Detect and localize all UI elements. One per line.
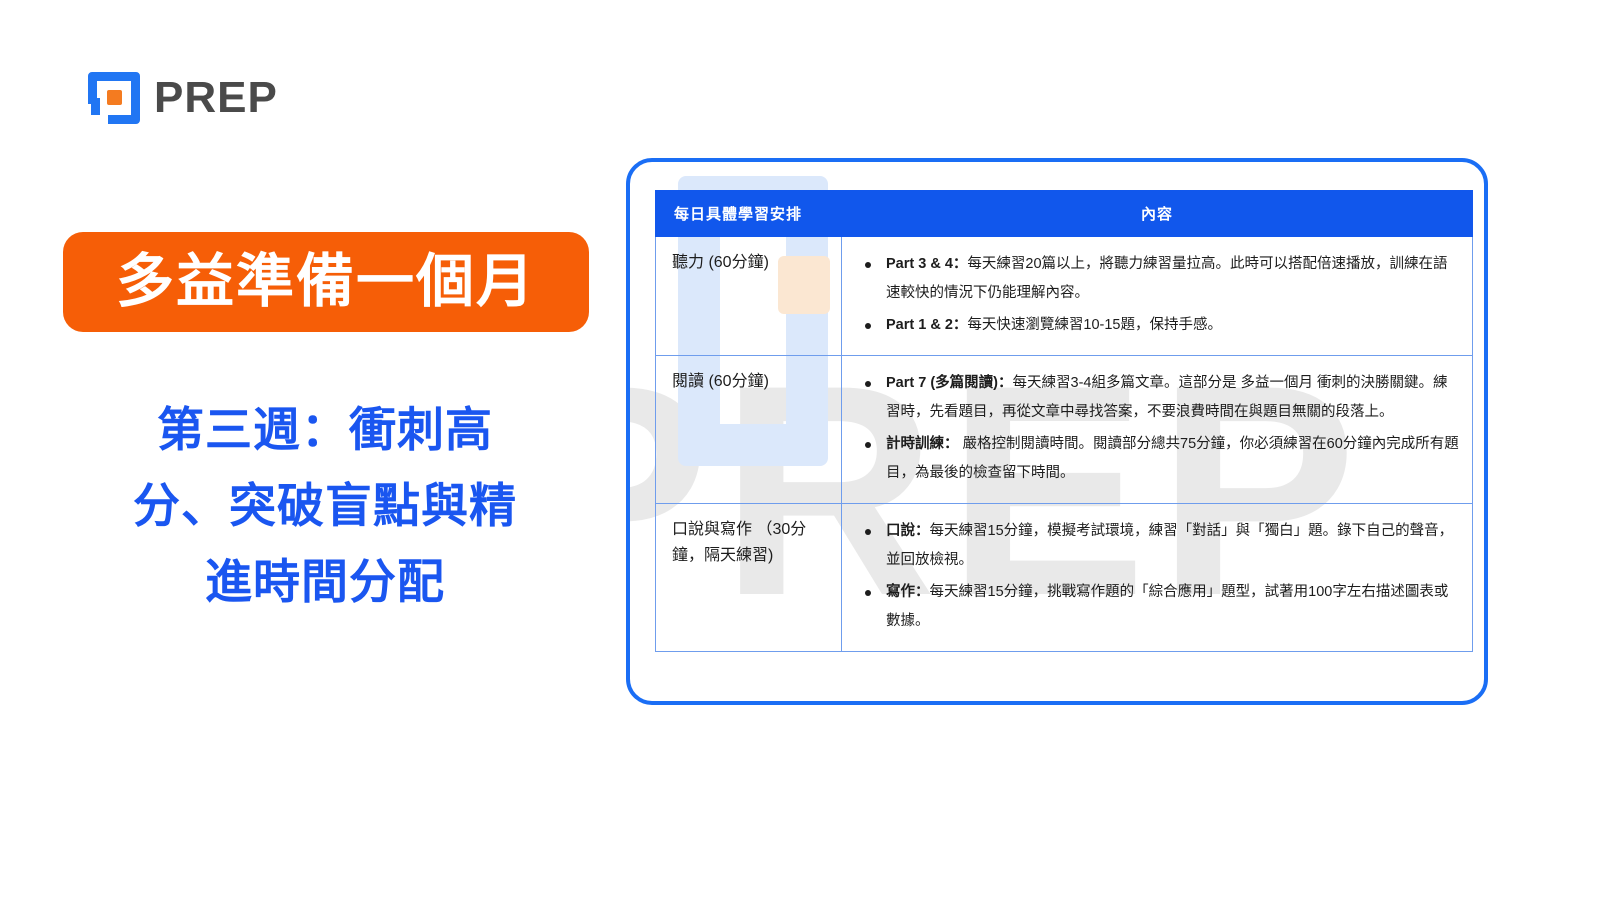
- table-row: 口說與寫作 （30分鐘，隔天練習) 口說：每天練習15分鐘，模擬考試環境，練習「…: [656, 504, 1473, 652]
- bullet-text: 每天練習15分鐘，挑戰寫作題的「綜合應用」題型，試著用100字左右描述圖表或數據…: [886, 584, 1448, 629]
- list-item: 口說：每天練習15分鐘，模擬考試環境，練習「對話」與「獨白」題。錄下自己的聲音，…: [886, 517, 1460, 575]
- schedule-table: 每日具體學習安排 內容 聽力 (60分鐘) Part 3 & 4：每天練習20篇…: [655, 190, 1473, 652]
- schedule-card: PREP 每日具體學習安排 內容 聽力 (60分鐘): [626, 158, 1488, 705]
- table-header-row: 每日具體學習安排 內容: [656, 191, 1473, 237]
- brand-logo: PREP: [88, 72, 278, 124]
- page-title: 第三週：衝刺高分、突破盲點與精進時間分配: [110, 392, 540, 620]
- bullet-text: 每天練習15分鐘，模擬考試環境，練習「對話」與「獨白」題。錄下自己的聲音，並回放…: [886, 523, 1453, 568]
- table-body: 聽力 (60分鐘) Part 3 & 4：每天練習20篇以上，將聽力練習量拉高。…: [656, 237, 1473, 652]
- bullet-strong: Part 1 & 2：: [886, 317, 967, 333]
- row-label-listening: 聽力 (60分鐘): [656, 237, 842, 356]
- table-row: 閱讀 (60分鐘) Part 7 (多篇閱讀)：每天練習3-4組多篇文章。這部分…: [656, 356, 1473, 504]
- bullet-strong: 口說：: [886, 523, 930, 539]
- brand-name: PREP: [154, 76, 278, 120]
- bullet-strong: 計時訓練：: [886, 436, 959, 452]
- prep-logo-icon: [88, 72, 140, 124]
- list-item: Part 7 (多篇閱讀)：每天練習3-4組多篇文章。這部分是 多益一個月 衝刺…: [886, 369, 1460, 427]
- bullet-text: 嚴格控制閱讀時間。閱讀部分總共75分鐘，你必須練習在60分鐘內完成所有題目，為最…: [886, 436, 1459, 481]
- bullet-strong: Part 7 (多篇閱讀)：: [886, 375, 1013, 391]
- left-panel: PREP 多益準備一個月 第三週：衝刺高分、突破盲點與精進時間分配: [0, 0, 620, 900]
- bullet-list: 口說：每天練習15分鐘，模擬考試環境，練習「對話」與「獨白」題。錄下自己的聲音，…: [842, 517, 1460, 636]
- schedule-table-wrapper: 每日具體學習安排 內容 聽力 (60分鐘) Part 3 & 4：每天練習20篇…: [655, 190, 1464, 652]
- column-header-schedule: 每日具體學習安排: [656, 191, 842, 237]
- row-content-listening: Part 3 & 4：每天練習20篇以上，將聽力練習量拉高。此時可以搭配倍速播放…: [842, 237, 1473, 356]
- logo-orange-square-icon: [107, 90, 122, 105]
- row-label-reading: 閱讀 (60分鐘): [656, 356, 842, 504]
- list-item: Part 1 & 2：每天快速瀏覽練習10-15題，保持手感。: [886, 311, 1460, 340]
- list-item: Part 3 & 4：每天練習20篇以上，將聽力練習量拉高。此時可以搭配倍速播放…: [886, 250, 1460, 308]
- table-row: 聽力 (60分鐘) Part 3 & 4：每天練習20篇以上，將聽力練習量拉高。…: [656, 237, 1473, 356]
- logo-stub: [91, 98, 100, 115]
- row-content-speaking-writing: 口說：每天練習15分鐘，模擬考試環境，練習「對話」與「獨白」題。錄下自己的聲音，…: [842, 504, 1473, 652]
- bullet-strong: Part 3 & 4：: [886, 256, 967, 272]
- list-item: 寫作：每天練習15分鐘，挑戰寫作題的「綜合應用」題型，試著用100字左右描述圖表…: [886, 578, 1460, 636]
- bullet-list: Part 3 & 4：每天練習20篇以上，將聽力練習量拉高。此時可以搭配倍速播放…: [842, 250, 1460, 340]
- table-head: 每日具體學習安排 內容: [656, 191, 1473, 237]
- bullet-text: 每天快速瀏覽練習10-15題，保持手感。: [967, 317, 1222, 333]
- title-badge: 多益準備一個月: [63, 232, 589, 332]
- bullet-list: Part 7 (多篇閱讀)：每天練習3-4組多篇文章。這部分是 多益一個月 衝刺…: [842, 369, 1460, 488]
- row-content-reading: Part 7 (多篇閱讀)：每天練習3-4組多篇文章。這部分是 多益一個月 衝刺…: [842, 356, 1473, 504]
- title-badge-label: 多益準備一個月: [116, 253, 536, 311]
- bullet-strong: 寫作：: [886, 584, 930, 600]
- column-header-content: 內容: [842, 191, 1473, 237]
- list-item: 計時訓練： 嚴格控制閱讀時間。閱讀部分總共75分鐘，你必須練習在60分鐘內完成所…: [886, 430, 1460, 488]
- row-label-speaking-writing: 口說與寫作 （30分鐘，隔天練習): [656, 504, 842, 652]
- bullet-text: 每天練習20篇以上，將聽力練習量拉高。此時可以搭配倍速播放，訓練在語速較快的情況…: [886, 256, 1448, 301]
